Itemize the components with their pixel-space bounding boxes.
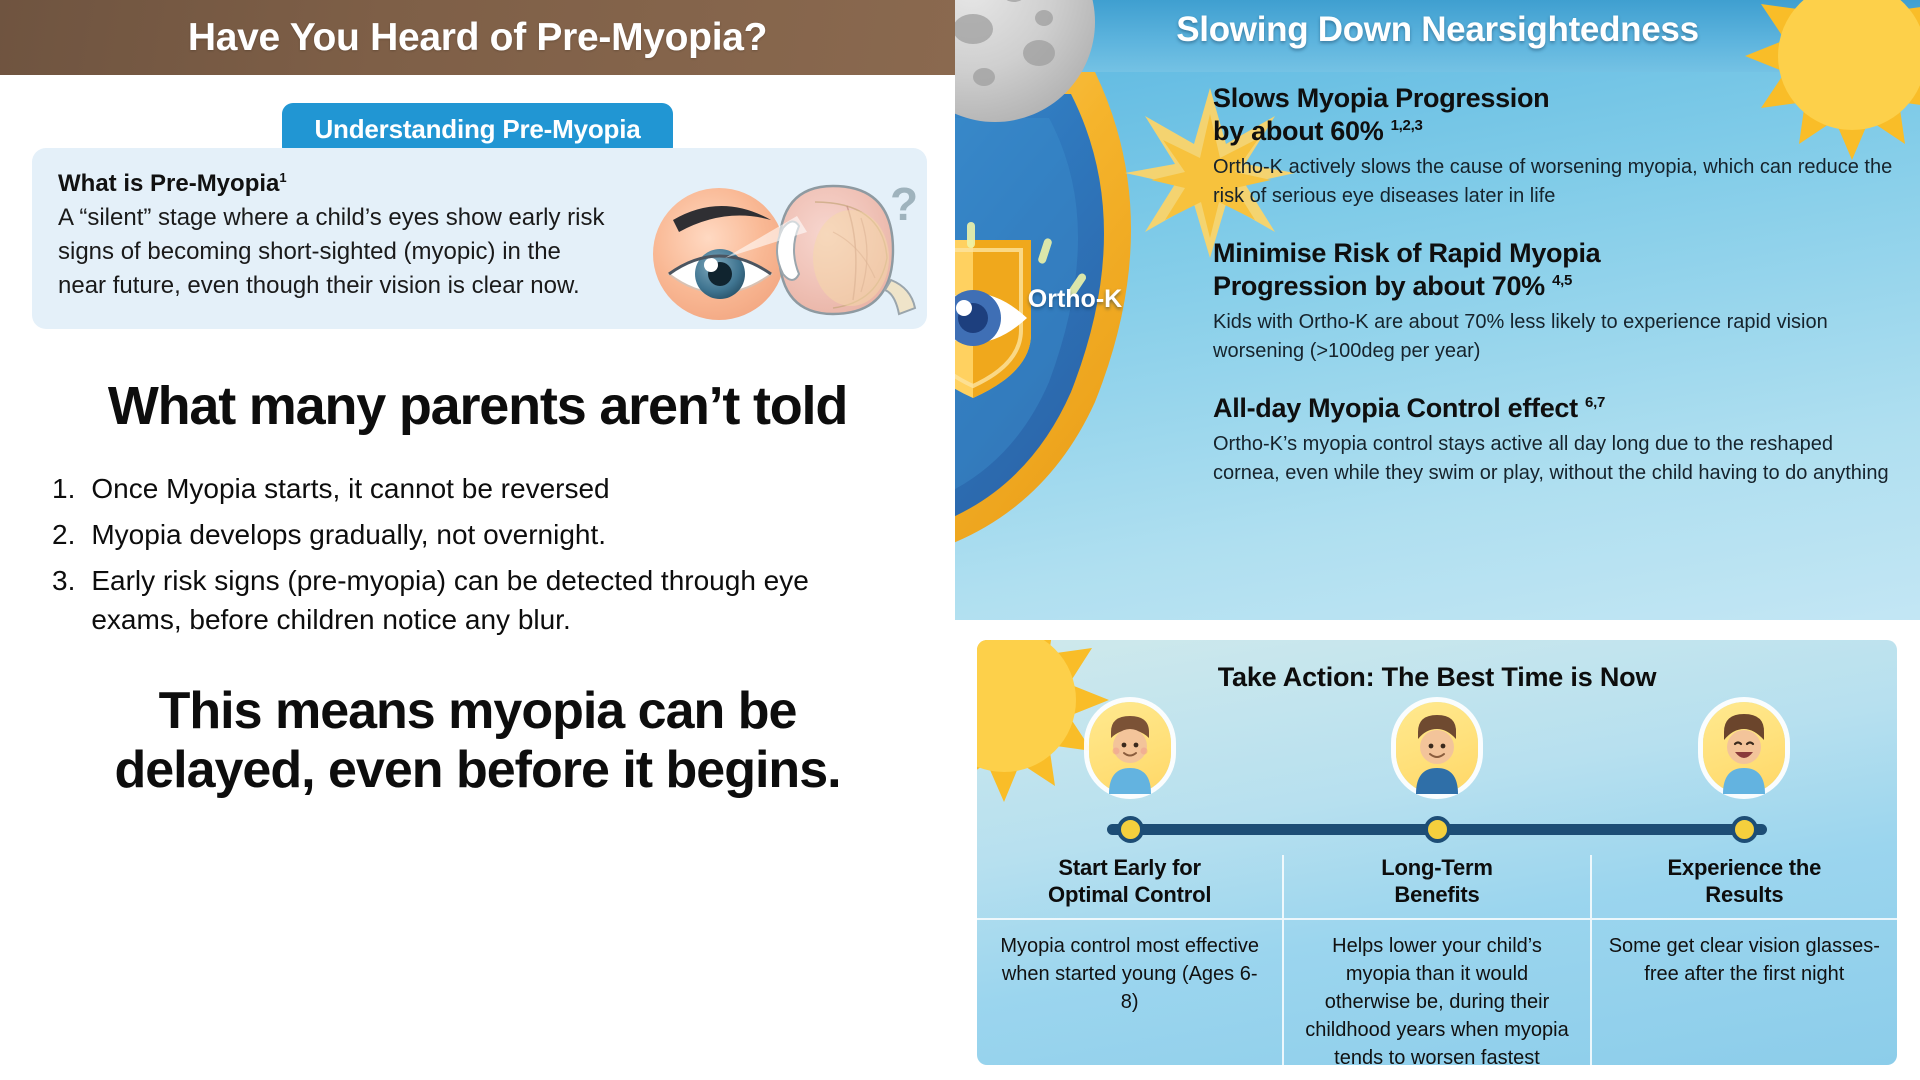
benefit-heading-line-2-text: Progression by about 70% xyxy=(1213,271,1545,301)
infographic-page: Have You Heard of Pre-Myopia? Understand… xyxy=(0,0,1920,1080)
benefit-heading: Minimise Risk of Rapid Myopia Progressio… xyxy=(1213,237,1893,303)
closing-line-1: This means myopia can be xyxy=(40,682,915,741)
benefit-heading-line-1-text: All-day Myopia Control effect xyxy=(1213,393,1578,423)
timeline xyxy=(977,702,1897,857)
column-heading-line-2: Benefits xyxy=(1300,882,1573,909)
eye-anatomy-illustration: ? xyxy=(647,162,917,329)
benefit-item: All-day Myopia Control effect 6,7 Ortho-… xyxy=(1213,392,1893,488)
teen-avatar-icon xyxy=(1396,702,1478,794)
benefit-item: Slows Myopia Progression by about 60% 1,… xyxy=(1213,82,1893,211)
right-panel: Slowing Down Nearsightedness Ortho-K Slo… xyxy=(955,0,1920,1080)
closing-statement: This means myopia can be delayed, even b… xyxy=(0,682,955,800)
facts-list: 1. Once Myopia starts, it cannot be reve… xyxy=(52,469,955,640)
info-card-title-text: What is Pre-Myopia xyxy=(58,170,279,197)
benefit-heading-line-2: by about 60% 1,2,3 xyxy=(1213,115,1893,148)
column-heading-line-2: Results xyxy=(1608,882,1881,909)
pre-myopia-info-card: What is Pre-Myopia1 A “silent” stage whe… xyxy=(32,148,927,329)
benefit-heading-line-2-text: by about 60% xyxy=(1213,116,1383,146)
list-item-label: Early risk signs (pre-myopia) can be det… xyxy=(91,561,901,641)
benefit-reference-superscript: 1,2,3 xyxy=(1391,117,1423,134)
take-action-title: Take Action: The Best Time is Now xyxy=(977,662,1897,693)
list-item-number: 3. xyxy=(52,561,75,641)
benefit-heading-line-1: All-day Myopia Control effect 6,7 xyxy=(1213,392,1893,425)
happy-teen-avatar-icon xyxy=(1703,702,1785,794)
benefit-heading-line-1: Minimise Risk of Rapid Myopia xyxy=(1213,237,1893,270)
column-divider xyxy=(977,918,1282,920)
list-item-label: Once Myopia starts, it cannot be reverse… xyxy=(91,469,901,509)
ortho-k-shield-label: Ortho-K xyxy=(985,285,1165,314)
question-mark-icon: ? xyxy=(890,178,917,230)
take-action-column: Experience the Results Some get clear vi… xyxy=(1592,855,1897,1065)
column-heading-line-2: Optimal Control xyxy=(993,882,1266,909)
list-item: 3. Early risk signs (pre-myopia) can be … xyxy=(52,561,955,641)
take-action-column: Start Early for Optimal Control Myopia c… xyxy=(977,855,1282,1065)
big-heading: What many parents aren’t told xyxy=(0,375,955,437)
column-heading: Experience the Results xyxy=(1608,855,1881,909)
benefit-body: Ortho-K’s myopia control stays active al… xyxy=(1213,430,1893,488)
take-action-column: Long-Term Benefits Helps lower your chil… xyxy=(1284,855,1589,1065)
benefit-body: Ortho-K actively slows the cause of wors… xyxy=(1213,153,1893,211)
right-top-section: Slowing Down Nearsightedness Ortho-K Slo… xyxy=(955,0,1920,620)
left-header-bar: Have You Heard of Pre-Myopia? xyxy=(0,0,955,75)
column-divider xyxy=(1284,918,1589,920)
timeline-dot xyxy=(1424,816,1451,843)
column-divider xyxy=(1592,918,1897,920)
info-card-title-superscript: 1 xyxy=(279,170,286,185)
list-item: 2. Myopia develops gradually, not overni… xyxy=(52,515,955,555)
column-heading: Long-Term Benefits xyxy=(1300,855,1573,909)
left-panel: Have You Heard of Pre-Myopia? Understand… xyxy=(0,0,955,1080)
benefit-heading: Slows Myopia Progression by about 60% 1,… xyxy=(1213,82,1893,148)
benefit-reference-superscript: 6,7 xyxy=(1585,394,1605,411)
list-item-number: 1. xyxy=(52,469,75,509)
list-item-number: 2. xyxy=(52,515,75,555)
take-action-columns: Start Early for Optimal Control Myopia c… xyxy=(977,855,1897,1065)
benefit-heading: All-day Myopia Control effect 6,7 xyxy=(1213,392,1893,425)
benefit-reference-superscript: 4,5 xyxy=(1552,272,1572,289)
list-item-label: Myopia develops gradually, not overnight… xyxy=(91,515,901,555)
column-heading: Start Early for Optimal Control xyxy=(993,855,1266,909)
timeline-dot xyxy=(1117,816,1144,843)
take-action-card: Take Action: The Best Time is Now xyxy=(977,640,1897,1065)
timeline-dot xyxy=(1731,816,1758,843)
eye-front-icon xyxy=(653,188,785,320)
left-header-title: Have You Heard of Pre-Myopia? xyxy=(188,16,767,60)
list-item: 1. Once Myopia starts, it cannot be reve… xyxy=(52,469,955,509)
info-card-body: A “silent” stage where a child’s eyes sh… xyxy=(58,201,613,303)
column-body: Helps lower your child’s myopia than it … xyxy=(1300,932,1573,1065)
column-heading-line-1: Experience the xyxy=(1608,855,1881,882)
column-heading-line-1: Start Early for xyxy=(993,855,1266,882)
column-body: Myopia control most effective when start… xyxy=(993,932,1266,1016)
benefit-item: Minimise Risk of Rapid Myopia Progressio… xyxy=(1213,237,1893,366)
child-avatar-icon xyxy=(1089,702,1171,794)
benefit-body: Kids with Ortho-K are about 70% less lik… xyxy=(1213,308,1893,366)
closing-line-2: delayed, even before it begins. xyxy=(40,741,915,800)
benefit-heading-line-2: Progression by about 70% 4,5 xyxy=(1213,270,1893,303)
benefit-heading-line-1: Slows Myopia Progression xyxy=(1213,82,1893,115)
column-heading-line-1: Long-Term xyxy=(1300,855,1573,882)
benefits-list: Slows Myopia Progression by about 60% 1,… xyxy=(1213,82,1893,514)
right-header-title: Slowing Down Nearsightedness xyxy=(955,10,1920,50)
column-body: Some get clear vision glasses-free after… xyxy=(1608,932,1881,988)
